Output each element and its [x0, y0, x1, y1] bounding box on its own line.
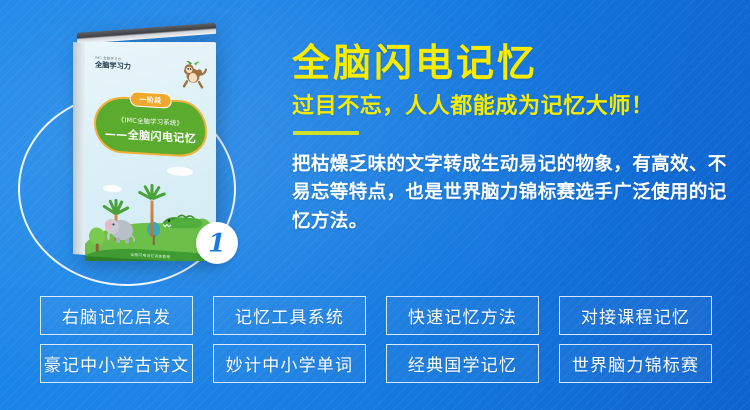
- feature-tag[interactable]: 对接课程记忆: [559, 296, 712, 335]
- promo-banner: 1 IMC 全脑学习力 全脑学习力: [0, 0, 750, 410]
- feature-tag[interactable]: 经典国学记忆: [386, 344, 539, 383]
- feature-tag-grid: 右脑记忆启发 记忆工具系统 快速记忆方法 对接课程记忆 豪记中小学古诗文 妙计中…: [40, 296, 712, 383]
- accent-rule: [293, 131, 359, 135]
- feature-tag[interactable]: 妙计中小学单词: [213, 344, 366, 383]
- monkey-mascot-icon: [179, 59, 209, 91]
- feature-tag[interactable]: 记忆工具系统: [213, 296, 366, 335]
- box-front-face: IMC 全脑学习力 全脑学习力: [85, 42, 216, 261]
- stage-number-badge: 1: [196, 222, 238, 264]
- feature-tag[interactable]: 世界脑力锦标赛: [559, 344, 712, 383]
- cover-title-blob: 一阶段 《IMC全脑学习系统》 ——全脑闪电记忆: [94, 95, 207, 158]
- feature-tag[interactable]: 豪记中小学古诗文: [40, 344, 193, 383]
- feature-tag[interactable]: 快速记忆方法: [386, 296, 539, 335]
- headline: 全脑闪电记忆: [292, 44, 740, 82]
- stage-number-label: 1: [196, 231, 238, 256]
- body-paragraph: 把枯燥乏味的文字转成生动易记的物象，有高效、不易忘等特点，也是世界脑力锦标赛选手…: [292, 151, 740, 235]
- cover-stage-label: 一阶段: [129, 91, 172, 109]
- product-artwork: 1 IMC 全脑学习力 全脑学习力: [0, 0, 290, 300]
- cloud-icon: [167, 166, 193, 177]
- copy-block: 全脑闪电记忆 过目不忘，人人都能成为记忆大师！ 把枯燥乏味的文字转成生动易记的物…: [292, 44, 740, 236]
- box-top-edge: [77, 23, 216, 44]
- elephant-icon: [103, 214, 137, 244]
- brand-logo: IMC 全脑学习力 全脑学习力: [95, 57, 155, 73]
- subheadline: 过目不忘，人人都能成为记忆大师！: [292, 94, 740, 119]
- feature-tag[interactable]: 右脑记忆启发: [40, 296, 193, 335]
